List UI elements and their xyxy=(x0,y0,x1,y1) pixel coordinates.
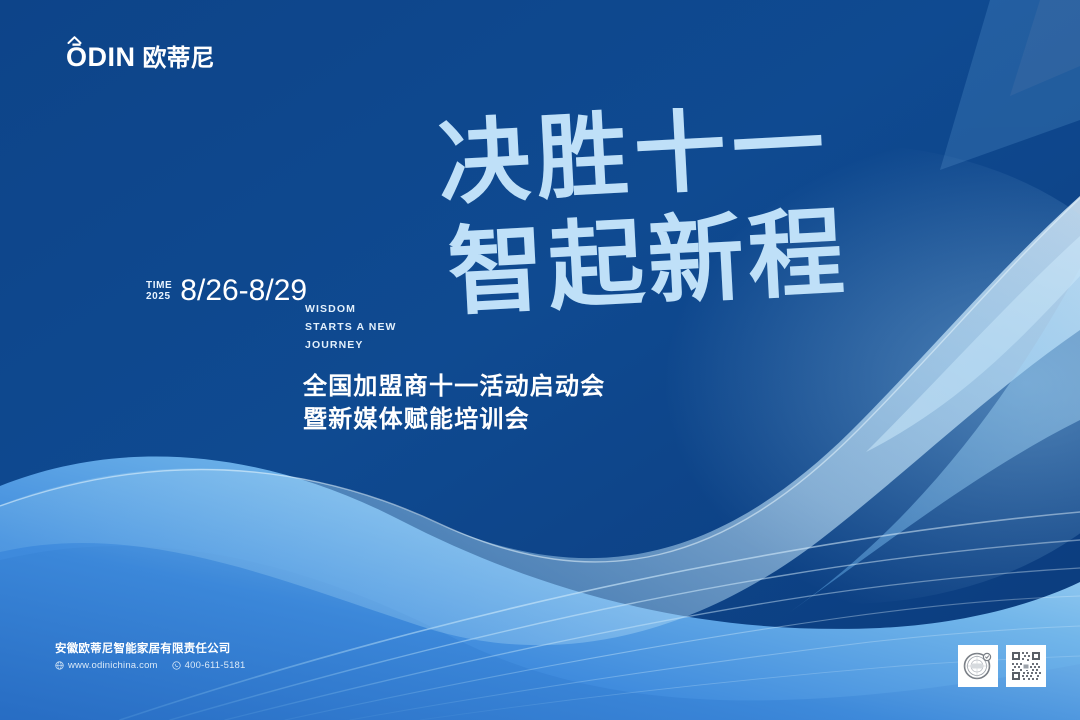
logo-latin-label: ŌDIN xyxy=(66,42,136,72)
globe-icon xyxy=(55,661,64,670)
event-date-range: 8/26-8/29 xyxy=(180,276,307,306)
badge-group xyxy=(958,645,1046,687)
phone-item[interactable]: 400-611-5181 xyxy=(172,660,246,671)
phone-label: 400-611-5181 xyxy=(185,660,246,671)
tagline-line-3: JOURNEY xyxy=(305,336,397,354)
time-label-stack: TIME 2025 xyxy=(146,281,172,306)
logo-latin-text: ŌDIN xyxy=(66,44,136,71)
contact-row: www.odinichina.com 400-611-5181 xyxy=(55,660,246,671)
website-item[interactable]: www.odinichina.com xyxy=(55,660,158,671)
poster-canvas: ŌDIN 欧蒂尼 决胜十一 智起新程 TIME 2025 8/26-8/29 W… xyxy=(0,0,1080,720)
footer-block: 安徽欧蒂尼智能家居有限责任公司 www.odinichina.com xyxy=(55,640,246,671)
seal-badge[interactable] xyxy=(958,645,998,687)
website-label: www.odinichina.com xyxy=(68,660,158,671)
qr-badge[interactable] xyxy=(1006,645,1046,687)
event-subtitle: 全国加盟商十一活动启动会 暨新媒体赋能培训会 xyxy=(303,370,605,436)
event-date-block: TIME 2025 8/26-8/29 xyxy=(146,276,307,306)
headline-calligraphy: 决胜十一 智起新程 xyxy=(432,108,912,338)
phone-icon xyxy=(172,661,181,670)
tagline-line-2: STARTS A NEW xyxy=(305,318,397,336)
headline-line-2: 智起新程 xyxy=(445,195,850,329)
logo-chinese-label: 欧蒂尼 xyxy=(143,46,215,70)
tagline-line-1: WISDOM xyxy=(305,300,397,318)
brand-logo[interactable]: ŌDIN 欧蒂尼 xyxy=(66,44,215,71)
subtitle-line-2: 暨新媒体赋能培训会 xyxy=(303,403,605,436)
company-name: 安徽欧蒂尼智能家居有限责任公司 xyxy=(55,640,246,656)
subtitle-line-1: 全国加盟商十一活动启动会 xyxy=(303,370,605,403)
event-year: 2025 xyxy=(146,292,172,303)
english-tagline: WISDOM STARTS A NEW JOURNEY xyxy=(305,300,397,354)
